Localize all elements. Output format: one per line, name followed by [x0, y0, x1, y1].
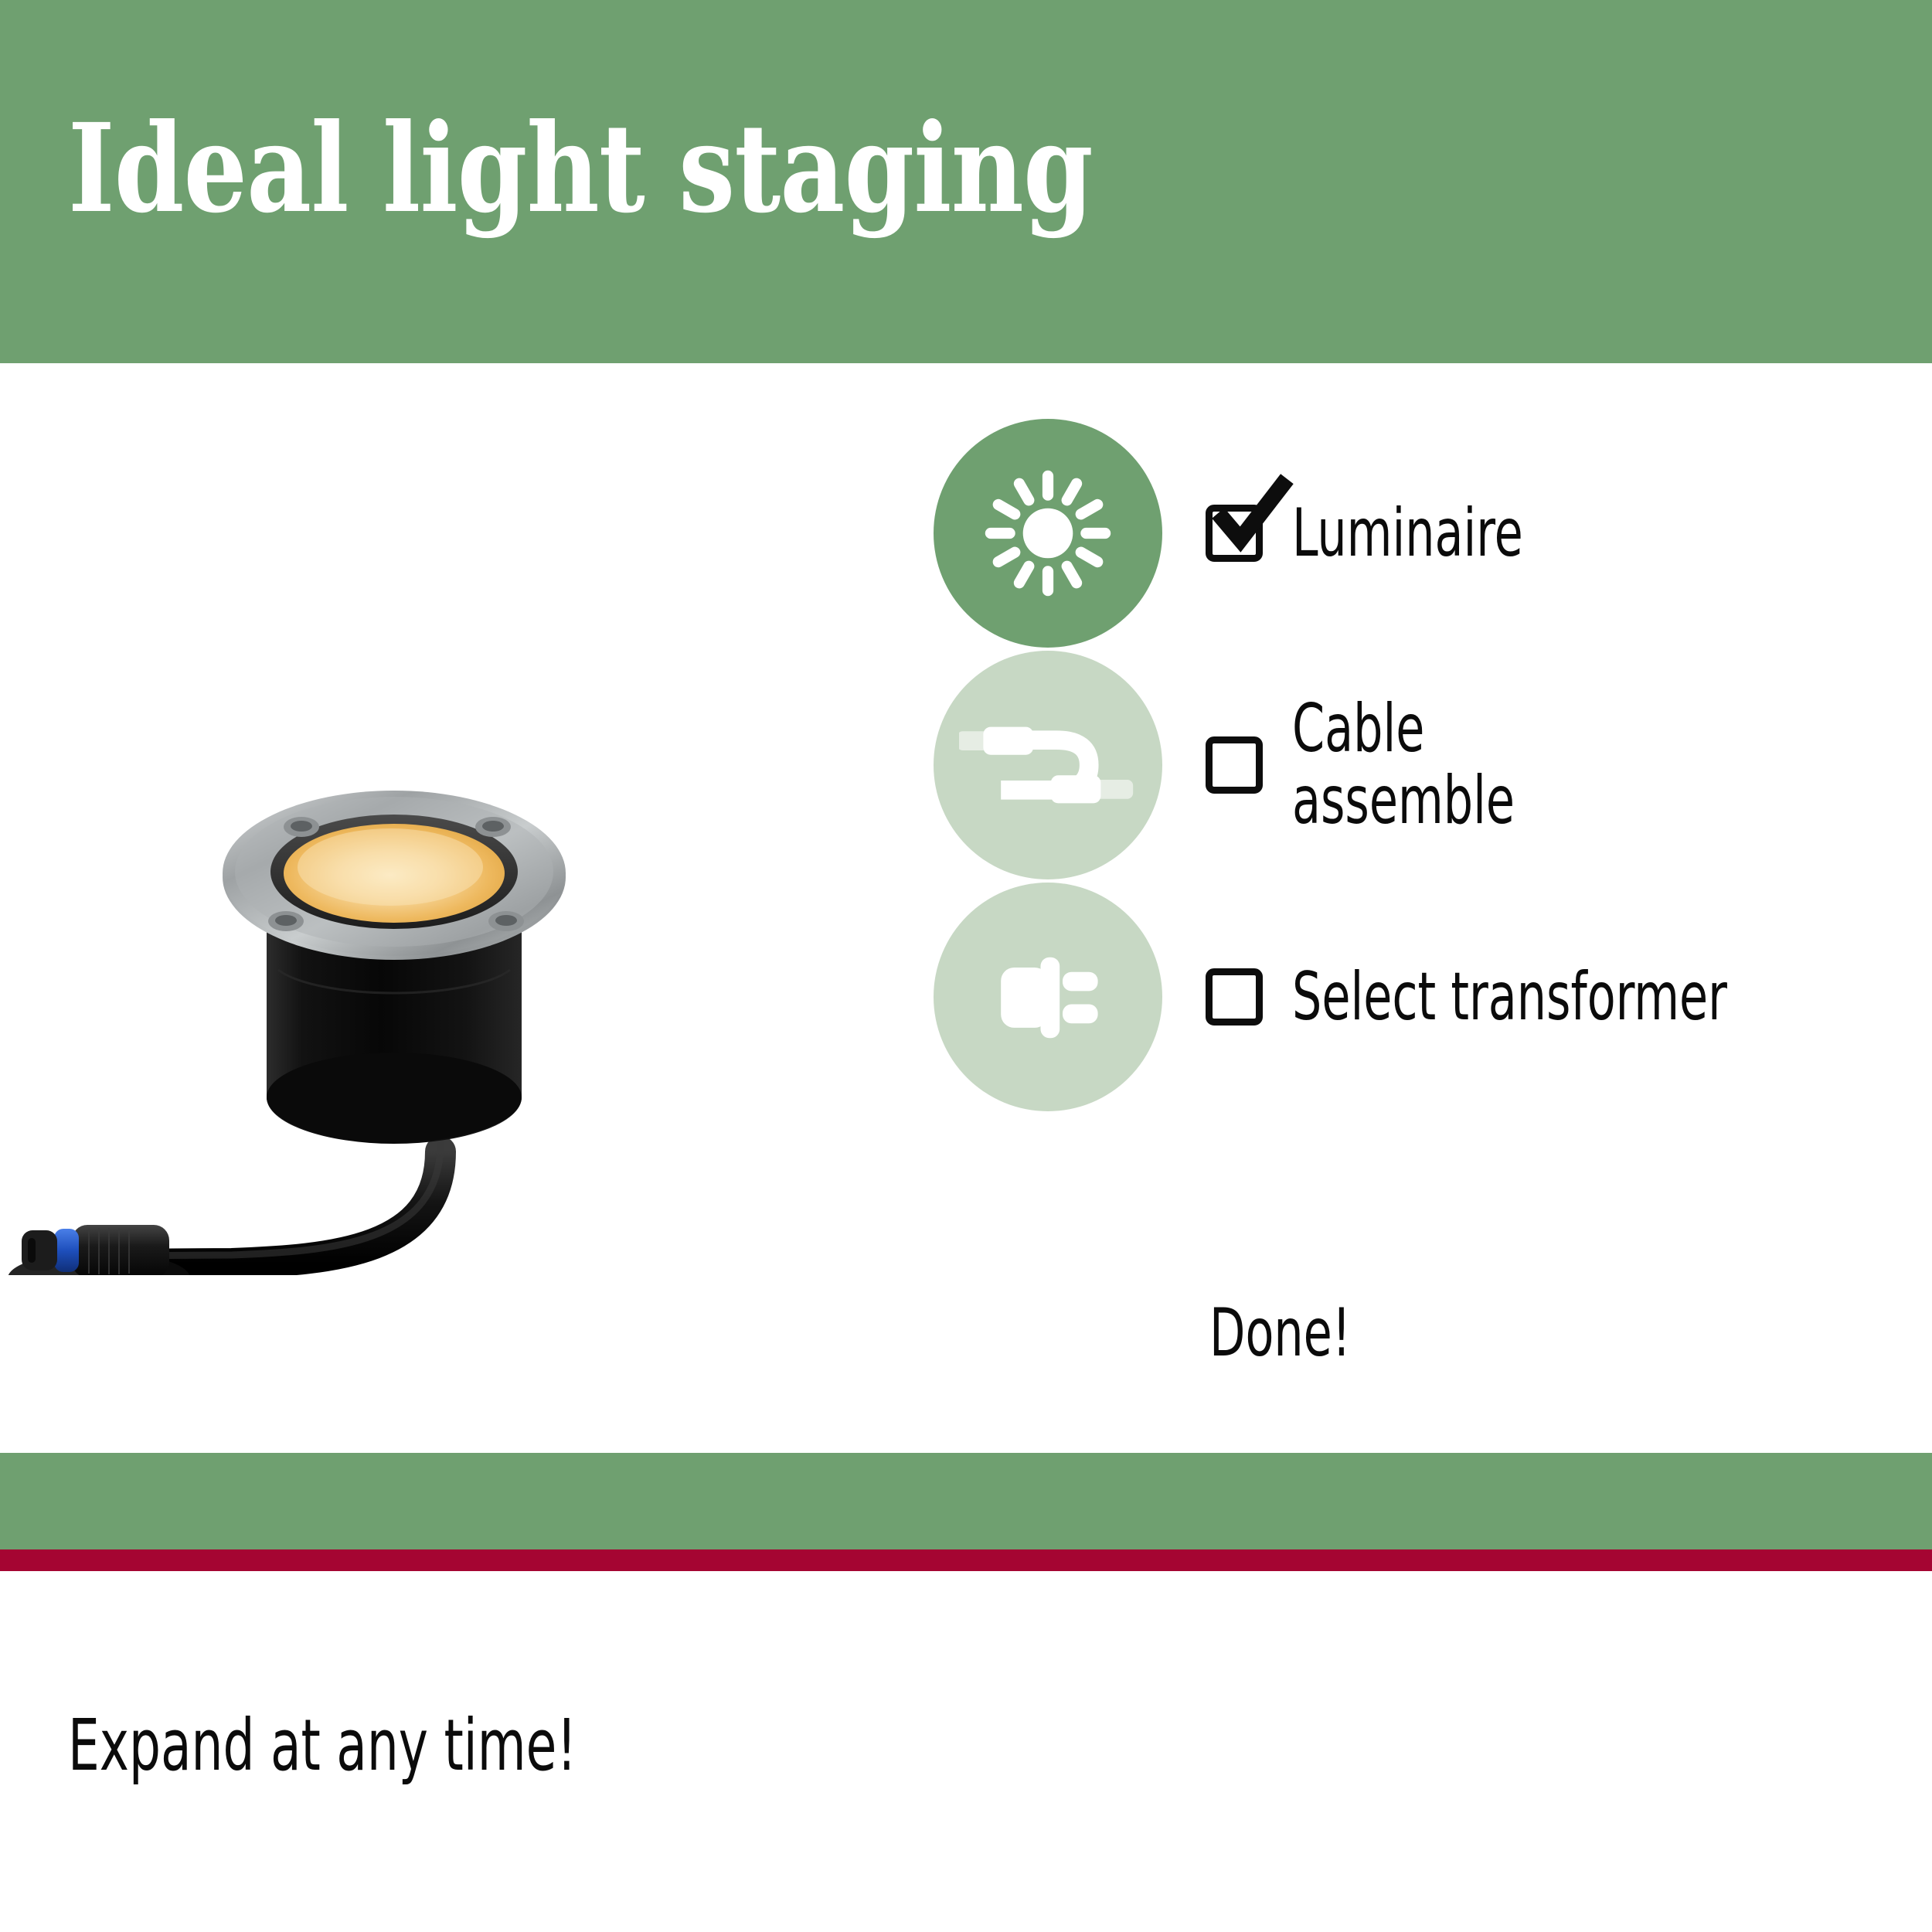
sun-icon-badge — [934, 419, 1162, 648]
product-image — [0, 719, 912, 1275]
checklist-label-luminaire: Luminaire — [1292, 498, 1523, 570]
cable-icon — [959, 692, 1137, 838]
cable-icon-badge — [934, 651, 1162, 879]
footer-red-bar — [0, 1549, 1932, 1571]
checklist-item-transformer-right[interactable]: Select transformer — [1206, 961, 1850, 1033]
checklist-item-cable-right[interactable]: Cable assemble — [1206, 693, 1577, 837]
checklist-item-luminaire[interactable]: Luminaire — [934, 417, 1923, 649]
plug-icon — [975, 923, 1121, 1070]
checklist-item-luminaire-right[interactable]: Luminaire — [1206, 498, 1588, 570]
done-text: Done! — [1209, 1294, 1351, 1372]
footer-green-bar — [0, 1453, 1932, 1549]
checkmark-icon — [1202, 471, 1294, 564]
checklist-item-transformer[interactable]: Select transformer — [934, 881, 1923, 1113]
checklist-label-transformer: Select transformer — [1292, 961, 1727, 1033]
poster-root: Ideal light staging — [0, 0, 1932, 1932]
checkbox-transformer[interactable] — [1206, 968, 1263, 1026]
sun-icon — [975, 460, 1121, 607]
ground-luminaire-illustration — [0, 719, 912, 1275]
connector-blue-ring — [54, 1229, 79, 1272]
header-band: Ideal light staging — [0, 0, 1932, 363]
plug-icon-badge — [934, 883, 1162, 1111]
checkbox-luminaire[interactable] — [1206, 505, 1263, 562]
checklist-item-cable[interactable]: Cable assemble — [934, 649, 1923, 881]
checkbox-cable[interactable] — [1206, 736, 1263, 794]
footer-caption: Expand at any time! — [68, 1704, 577, 1787]
plug-connector — [8, 1225, 190, 1275]
checklist-label-cable: Cable assemble — [1292, 693, 1515, 837]
checklist: Luminaire Cable assemble — [934, 417, 1923, 1113]
page-title: Ideal light staging — [68, 108, 1093, 230]
